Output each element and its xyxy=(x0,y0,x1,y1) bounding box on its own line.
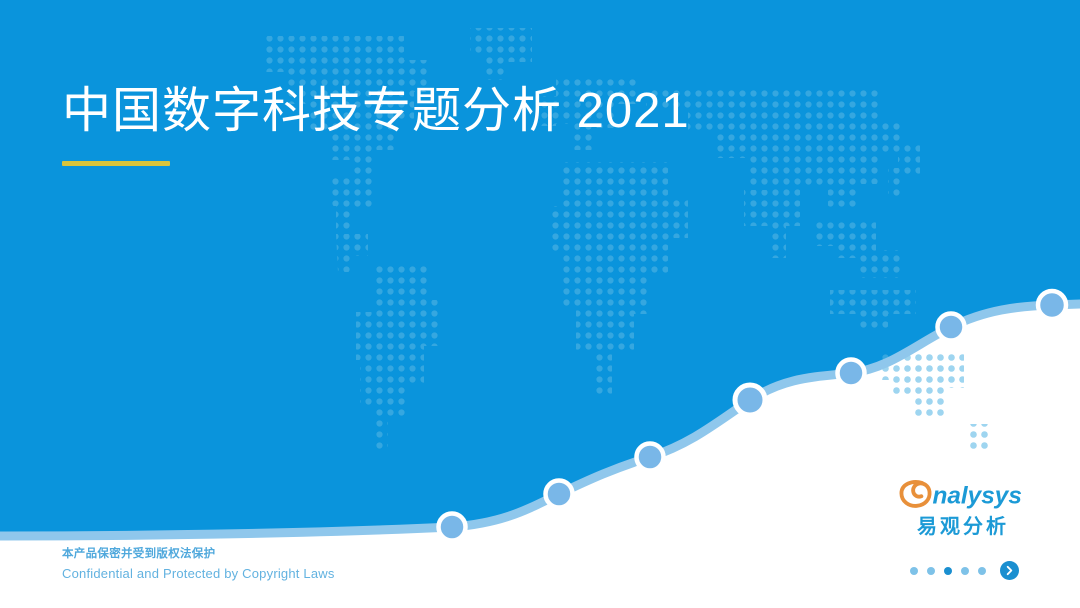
chart-marker xyxy=(838,360,865,387)
chart-marker xyxy=(1038,291,1066,319)
analysys-wordmark-icon: nalysys xyxy=(897,477,1045,511)
slide-pager xyxy=(910,561,1019,580)
title-underline-rule xyxy=(62,161,170,166)
next-slide-button[interactable] xyxy=(1000,561,1019,580)
analysys-logo: nalysys 易观分析 xyxy=(897,477,1029,539)
pager-dot-5[interactable] xyxy=(978,567,986,575)
pager-dot-4[interactable] xyxy=(961,567,969,575)
analysys-wordmark-text: nalysys xyxy=(932,483,1021,510)
chart-marker xyxy=(637,444,664,471)
copyright-notice: 本产品保密并受到版权法保护 Confidential and Protected… xyxy=(62,546,335,584)
title-block: 中国数字科技专题分析 2021 xyxy=(62,82,690,166)
pager-dot-3[interactable] xyxy=(944,567,952,575)
copyright-notice-chinese: 本产品保密并受到版权法保护 xyxy=(62,546,335,564)
presentation-cover-slide: 中国数字科技专题分析 2021 本产品保密并受到版权法保护 Confidenti… xyxy=(0,0,1080,608)
chevron-right-icon xyxy=(1004,565,1015,576)
pager-dot-1[interactable] xyxy=(910,567,918,575)
copyright-notice-english: Confidential and Protected by Copyright … xyxy=(62,564,335,584)
chart-marker xyxy=(938,314,965,341)
chart-marker xyxy=(546,481,573,508)
chart-marker xyxy=(439,514,466,541)
chart-marker xyxy=(735,385,765,415)
pager-dot-2[interactable] xyxy=(927,567,935,575)
analysys-logo-chinese: 易观分析 xyxy=(897,510,1029,539)
page-title: 中国数字科技专题分析 2021 xyxy=(62,82,690,141)
